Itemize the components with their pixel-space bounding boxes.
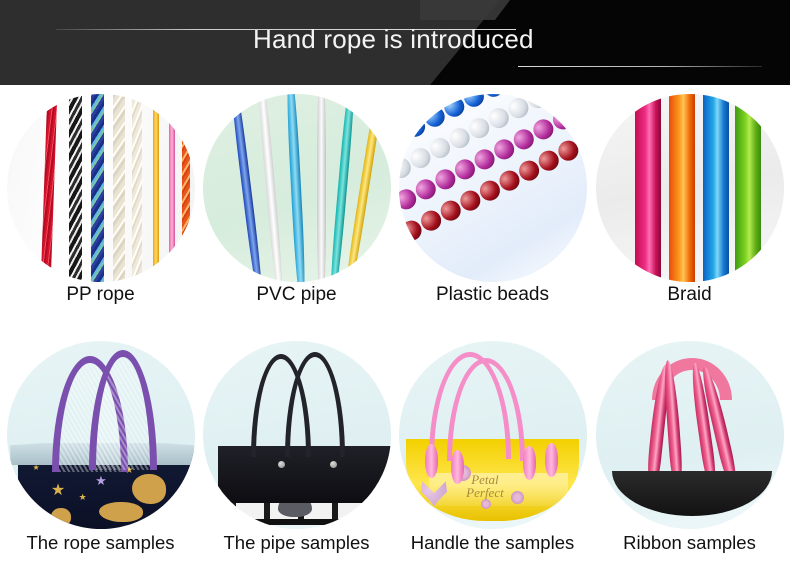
- pipe-samples-thumbnail[interactable]: [203, 341, 391, 529]
- bag-brand-text: Petal Perfect: [466, 473, 504, 500]
- gallery-item-pvc-pipe[interactable]: PVC pipe: [198, 85, 395, 332]
- pvc-pipe-swatch-icon: [203, 94, 391, 282]
- gallery-item-label: The pipe samples: [198, 533, 395, 553]
- gallery-item-pp-rope[interactable]: PP rope: [2, 85, 199, 332]
- gallery-item-braid[interactable]: Braid: [591, 85, 788, 332]
- header-title-underline: [518, 66, 762, 67]
- gallery-item-rope-samples[interactable]: ★ ★ ★ ★ ★ ★ The rope samples: [2, 332, 199, 577]
- plastic-handle-bag-photo-icon: Petal Perfect: [399, 341, 587, 529]
- gallery-item-plastic-beads[interactable]: Plastic beads: [394, 85, 591, 332]
- rope-samples-thumbnail[interactable]: ★ ★ ★ ★ ★ ★: [7, 341, 195, 529]
- gallery-item-label: Ribbon samples: [591, 533, 788, 553]
- pp-rope-thumbnail[interactable]: [7, 94, 195, 282]
- header-wedge-accent: [420, 0, 510, 20]
- gallery-item-handle-samples[interactable]: Petal Perfect Handle the samples: [394, 332, 591, 577]
- plastic-beads-swatch-icon: [399, 94, 587, 282]
- pipe-handle-bag-photo-icon: [203, 341, 391, 529]
- gallery-item-label: Handle the samples: [394, 533, 591, 553]
- sample-gallery: PP rope PVC pipe: [0, 85, 790, 577]
- gallery-item-label: Plastic beads: [394, 285, 591, 306]
- pp-rope-swatch-icon: [7, 94, 195, 282]
- ribbon-handle-bag-photo-icon: [596, 341, 784, 529]
- page-header-banner: Hand rope is introduced: [0, 0, 790, 85]
- page-title: Hand rope is introduced: [253, 26, 534, 52]
- gallery-item-pipe-samples[interactable]: The pipe samples: [198, 332, 395, 577]
- handle-samples-thumbnail[interactable]: Petal Perfect: [399, 341, 587, 529]
- plastic-beads-thumbnail[interactable]: [399, 94, 587, 282]
- gallery-item-label: The rope samples: [2, 533, 199, 553]
- gallery-item-label: PP rope: [2, 285, 199, 306]
- gallery-item-label: Braid: [591, 285, 788, 306]
- rope-handle-bag-photo-icon: ★ ★ ★ ★ ★ ★: [7, 341, 195, 529]
- ribbon-samples-thumbnail[interactable]: [596, 341, 784, 529]
- pvc-pipe-thumbnail[interactable]: [203, 94, 391, 282]
- gallery-item-ribbon-samples[interactable]: Ribbon samples: [591, 332, 788, 577]
- gallery-item-label: PVC pipe: [198, 285, 395, 306]
- braid-ribbon-swatch-icon: [596, 94, 784, 282]
- braid-thumbnail[interactable]: [596, 94, 784, 282]
